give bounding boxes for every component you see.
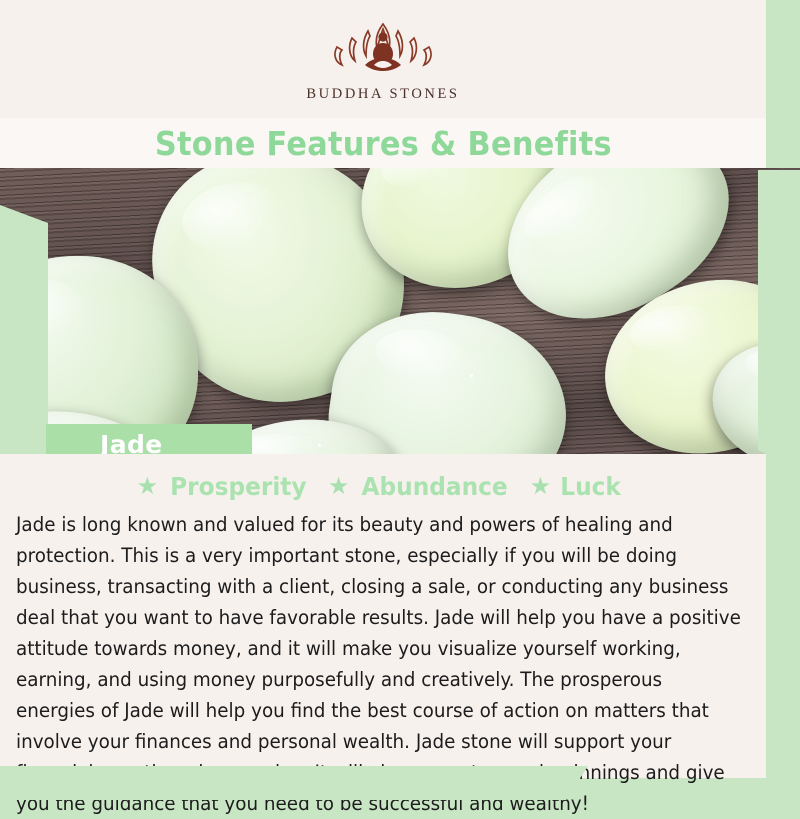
star-icon: ★ <box>137 475 159 499</box>
brand-header: BUDDHA STONES <box>0 0 766 118</box>
highlight-speck <box>318 444 321 447</box>
page-title: Stone Features & Benefits <box>154 124 611 163</box>
benefit-luck: ★ Luck <box>530 472 624 501</box>
frame-accent-right-band <box>758 170 800 470</box>
frame-accent-left-band <box>0 205 48 459</box>
star-icon: ★ <box>328 475 350 499</box>
highlight-speck <box>260 446 263 449</box>
star-icon: ★ <box>530 475 552 499</box>
highlight-speck <box>470 374 473 377</box>
benefit-label: Prosperity <box>170 472 306 501</box>
title-banner: Stone Features & Benefits <box>0 118 766 168</box>
frame-accent-bottom-band <box>0 766 588 800</box>
benefit-label: Luck <box>560 472 621 501</box>
content-section: ★ Prosperity ★ Abundance ★ Luck Jade is … <box>0 454 766 778</box>
benefit-prosperity: ★ Prosperity <box>137 472 312 501</box>
benefit-abundance: ★ Abundance <box>328 472 514 501</box>
benefit-label: Abundance <box>362 472 508 501</box>
stone-photo <box>0 168 800 454</box>
lotus-meditation-figure-icon <box>308 18 458 80</box>
benefits-row: ★ Prosperity ★ Abundance ★ Luck <box>16 472 744 501</box>
brand-name: BUDDHA STONES <box>306 86 459 103</box>
brand-logo: BUDDHA STONES <box>306 18 459 103</box>
